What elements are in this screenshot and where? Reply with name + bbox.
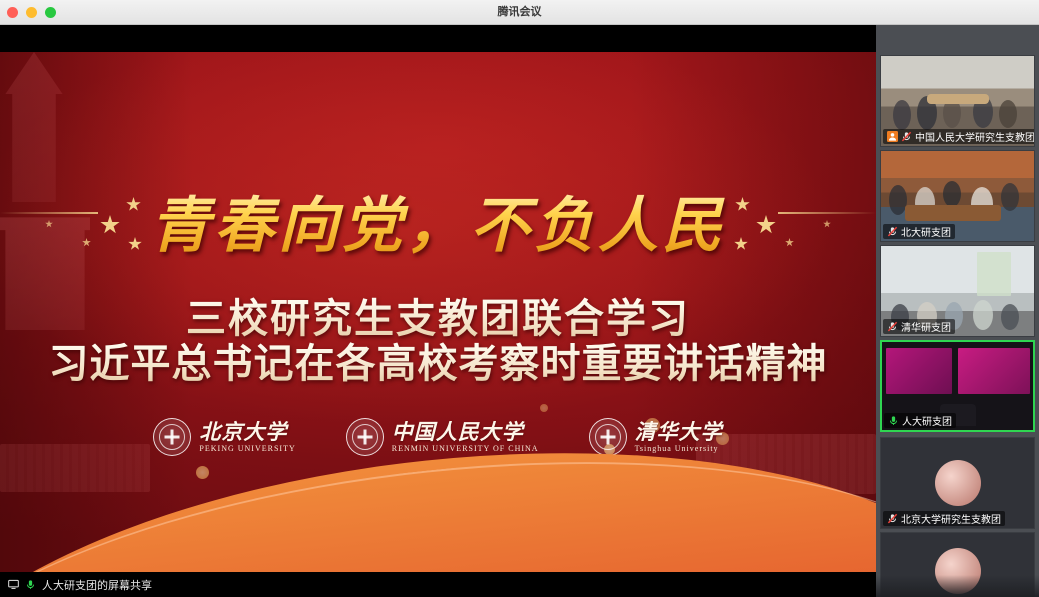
microphone-muted-icon bbox=[887, 321, 898, 332]
window-title: 腾讯会议 bbox=[0, 0, 1039, 25]
bokeh-dot bbox=[680, 460, 690, 470]
participant-label: 北京大学研究生支教团 bbox=[883, 511, 1005, 526]
microphone-muted-icon bbox=[887, 513, 898, 524]
meeting-window: 腾讯会议 bbox=[0, 0, 1039, 597]
participant-label: 中国人民大学研究生支教团 bbox=[883, 129, 1035, 144]
participant-name: 人大研支团 bbox=[902, 413, 952, 428]
university-seal-icon bbox=[153, 418, 191, 456]
microphone-icon bbox=[25, 579, 36, 590]
participant-name: 清华研支团 bbox=[901, 319, 951, 334]
logo-name-cn: 清华大学 bbox=[635, 421, 723, 443]
display-screen-left bbox=[886, 348, 952, 394]
participant-tile[interactable]: 北大研支团 bbox=[880, 150, 1035, 242]
monitor-icon bbox=[8, 579, 19, 590]
participant-label: 北大研支团 bbox=[883, 224, 955, 239]
logo-name-cn: 中国人民大学 bbox=[392, 421, 539, 443]
logo-name-cn: 北京大学 bbox=[199, 421, 295, 443]
display-screen-right bbox=[958, 348, 1030, 394]
person-icon bbox=[887, 131, 898, 142]
participant-tile[interactable]: 清华研支团 bbox=[880, 245, 1035, 337]
screen-share-statusbar: 人大研支团的屏幕共享 bbox=[0, 572, 876, 597]
university-logo-row: 北京大学 PEKING UNIVERSITY 中国人民大学 RENMIN UNI… bbox=[0, 418, 876, 456]
logo-name-en: Tsinghua University bbox=[635, 445, 723, 453]
participant-tile[interactable]: 中国人民大学研究生支教团 bbox=[880, 55, 1035, 147]
participant-name: 北京大学研究生支教团 bbox=[901, 511, 1001, 526]
participant-tile-active-speaker[interactable]: 人大研支团 bbox=[880, 340, 1035, 432]
bokeh-dot bbox=[196, 466, 209, 479]
participant-name: 中国人民大学研究生支教团 bbox=[915, 129, 1035, 144]
sidebar-fade bbox=[876, 575, 1039, 597]
participant-name: 北大研支团 bbox=[901, 224, 951, 239]
participant-tile[interactable]: 北京大学研究生支教团 bbox=[880, 437, 1035, 529]
microphone-icon bbox=[888, 415, 899, 426]
microphone-muted-icon bbox=[887, 226, 898, 237]
university-seal-icon bbox=[589, 418, 627, 456]
presentation-slide: 青春向党，不负人民 三校研究生支教团联合学习 习近平总书记在各高校考察时重要讲话… bbox=[0, 52, 876, 572]
slide-date: 2022年4月30日 bbox=[0, 483, 876, 528]
screen-share-label: 人大研支团的屏幕共享 bbox=[42, 577, 152, 593]
logo-peking-university: 北京大学 PEKING UNIVERSITY bbox=[153, 418, 295, 456]
logo-name-en: RENMIN UNIVERSITY OF CHINA bbox=[392, 445, 539, 453]
participant-label: 人大研支团 bbox=[884, 413, 956, 428]
participant-sidebar[interactable]: 中国人民大学研究生支教团 北大研支团 bbox=[876, 25, 1039, 597]
logo-name-en: PEKING UNIVERSITY bbox=[199, 445, 295, 453]
participant-label: 清华研支团 bbox=[883, 319, 955, 334]
logo-renmin-university: 中国人民大学 RENMIN UNIVERSITY OF CHINA bbox=[346, 418, 539, 456]
window-titlebar: 腾讯会议 bbox=[0, 0, 1039, 25]
university-seal-icon bbox=[346, 418, 384, 456]
slide-subtitle-2: 习近平总书记在各高校考察时重要讲话精神 bbox=[0, 331, 876, 389]
slide-headline: 青春向党，不负人民 bbox=[0, 177, 876, 264]
logo-tsinghua-university: 清华大学 Tsinghua University bbox=[589, 418, 723, 456]
bokeh-dot bbox=[540, 404, 548, 412]
avatar bbox=[935, 460, 981, 506]
shared-screen-stage[interactable]: 青春向党，不负人民 三校研究生支教团联合学习 习近平总书记在各高校考察时重要讲话… bbox=[0, 25, 876, 572]
microphone-muted-icon bbox=[901, 131, 912, 142]
